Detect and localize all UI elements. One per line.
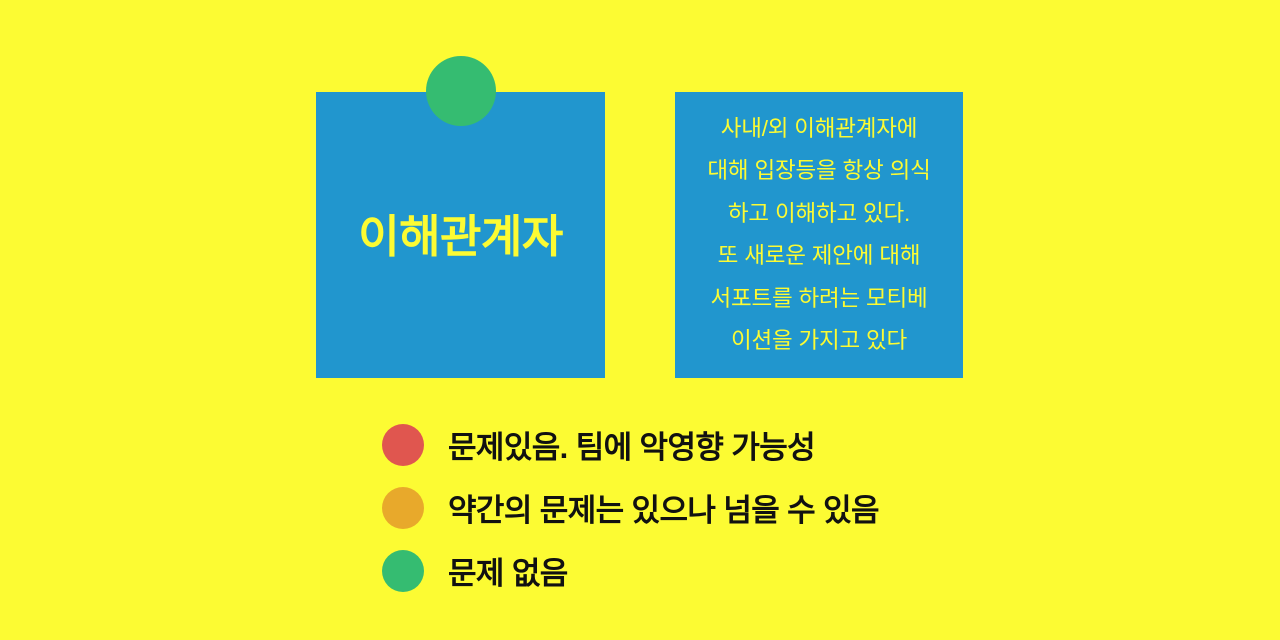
description-line: 대해 입장등을 항상 의식 — [707, 150, 930, 193]
legend-item-label: 약간의 문제는 있으나 넘을 수 있음 — [448, 485, 879, 530]
stakeholder-description-card: 사내/외 이해관계자에 대해 입장등을 항상 의식 하고 이해하고 있다. 또 … — [675, 92, 963, 378]
legend-item-label: 문제 없음 — [448, 548, 568, 593]
description-line: 사내/외 이해관계자에 — [721, 108, 918, 151]
stakeholder-title-card: 이해관계자 — [316, 92, 605, 378]
description-line: 서포트를 하려는 모티베 — [710, 278, 927, 321]
legend-item-no-problem: 문제 없음 — [382, 539, 1002, 602]
page-title: 이해관계자 — [358, 212, 563, 262]
description-line: 하고 이해하고 있다. — [728, 193, 910, 236]
status-dot-icon — [382, 550, 424, 592]
status-legend: 문제있음. 팀에 악영향 가능성 약간의 문제는 있으나 넘을 수 있음 문제 … — [382, 413, 1002, 602]
description-line: 또 새로운 제안에 대해 — [718, 235, 921, 278]
description-line: 이션을 가지고 있다 — [731, 320, 907, 363]
legend-item-minor-problem: 약간의 문제는 있으나 넘을 수 있음 — [382, 476, 1002, 539]
status-dot-icon — [382, 487, 424, 529]
status-dot-icon — [382, 424, 424, 466]
slide-canvas: 이해관계자 사내/외 이해관계자에 대해 입장등을 항상 의식 하고 이해하고 … — [0, 0, 1280, 640]
status-dot-icon — [426, 56, 496, 126]
legend-item-label: 문제있음. 팀에 악영향 가능성 — [448, 422, 815, 467]
legend-item-problem: 문제있음. 팀에 악영향 가능성 — [382, 413, 1002, 476]
